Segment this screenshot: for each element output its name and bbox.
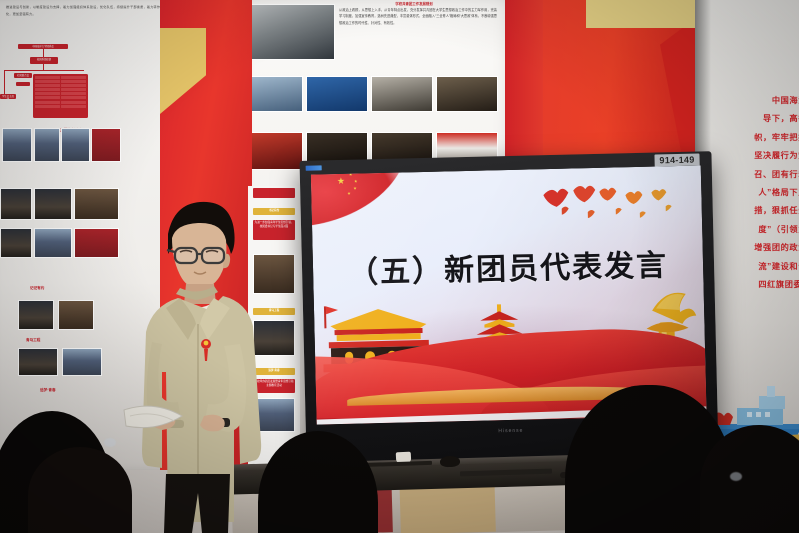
mid-poster-title: 学校共青团工作发展规划 bbox=[339, 1, 489, 6]
poster-photo bbox=[2, 128, 32, 162]
poster-photo bbox=[371, 76, 433, 112]
poster-photo bbox=[91, 128, 121, 162]
poster-photo bbox=[62, 348, 102, 376]
poster-photo-large bbox=[249, 4, 335, 60]
section-title-3: 追梦·青春 bbox=[40, 388, 56, 393]
photo-scene: 推进建设与创新，以制度建设为支撑，着力加强组织体系建设，优化队伍，持续提升干部素… bbox=[0, 0, 799, 533]
poster-photo bbox=[34, 188, 72, 220]
poster-photo bbox=[0, 188, 32, 220]
org-line bbox=[4, 70, 84, 71]
chinese-flag-corner-icon bbox=[311, 165, 410, 227]
org-chart: 中国海洋大学团委会 校团委组织部 学生会主席团 社团联合会 bbox=[0, 44, 95, 124]
section-title-2: 青马工程 bbox=[26, 338, 40, 343]
poster-photo bbox=[34, 228, 72, 258]
poster-photo bbox=[18, 348, 58, 376]
gold-accent-band bbox=[586, 0, 698, 28]
computer-mouse[interactable] bbox=[440, 456, 460, 468]
org-line bbox=[4, 70, 5, 94]
poster-photo bbox=[74, 228, 119, 258]
poster-photo bbox=[58, 300, 94, 330]
speaker-person bbox=[120, 192, 270, 533]
slide-title: （五）新团员代表发言 bbox=[313, 239, 704, 292]
org-chart-node-4 bbox=[16, 82, 30, 86]
poster-photo bbox=[0, 228, 32, 258]
org-line bbox=[43, 49, 44, 57]
poster-photo bbox=[61, 128, 90, 162]
org-chart-node-3: 社团联合会 bbox=[14, 73, 32, 78]
org-chart-node-1: 校团委组织部 bbox=[30, 57, 58, 64]
poster-photo bbox=[436, 76, 498, 112]
flying-doves-icon bbox=[533, 178, 684, 228]
poster-photo bbox=[249, 132, 303, 170]
poster-photo bbox=[74, 188, 119, 220]
poster-photo bbox=[18, 300, 54, 330]
mid-poster-body-text: 从政治上看顾，从思想上入手，从青年特点出发，充分发挥共青团在大学生思想政治工作中… bbox=[339, 7, 497, 59]
red-wall-column bbox=[505, 0, 543, 160]
eyeglass-glint bbox=[730, 472, 742, 481]
section-title-1: 记记有约 bbox=[30, 286, 44, 291]
poster-photo bbox=[34, 128, 60, 162]
org-chart-node-2: 学生会主席团 bbox=[0, 94, 16, 99]
panel-brand-logo-icon bbox=[306, 165, 322, 170]
panel-brand-label: Hisense bbox=[476, 427, 546, 435]
org-chart-detail-block bbox=[33, 74, 88, 118]
poster-photo bbox=[249, 76, 303, 112]
audience-head bbox=[28, 447, 132, 533]
eyeglass-glint bbox=[104, 438, 116, 447]
poster-photo bbox=[306, 76, 368, 112]
